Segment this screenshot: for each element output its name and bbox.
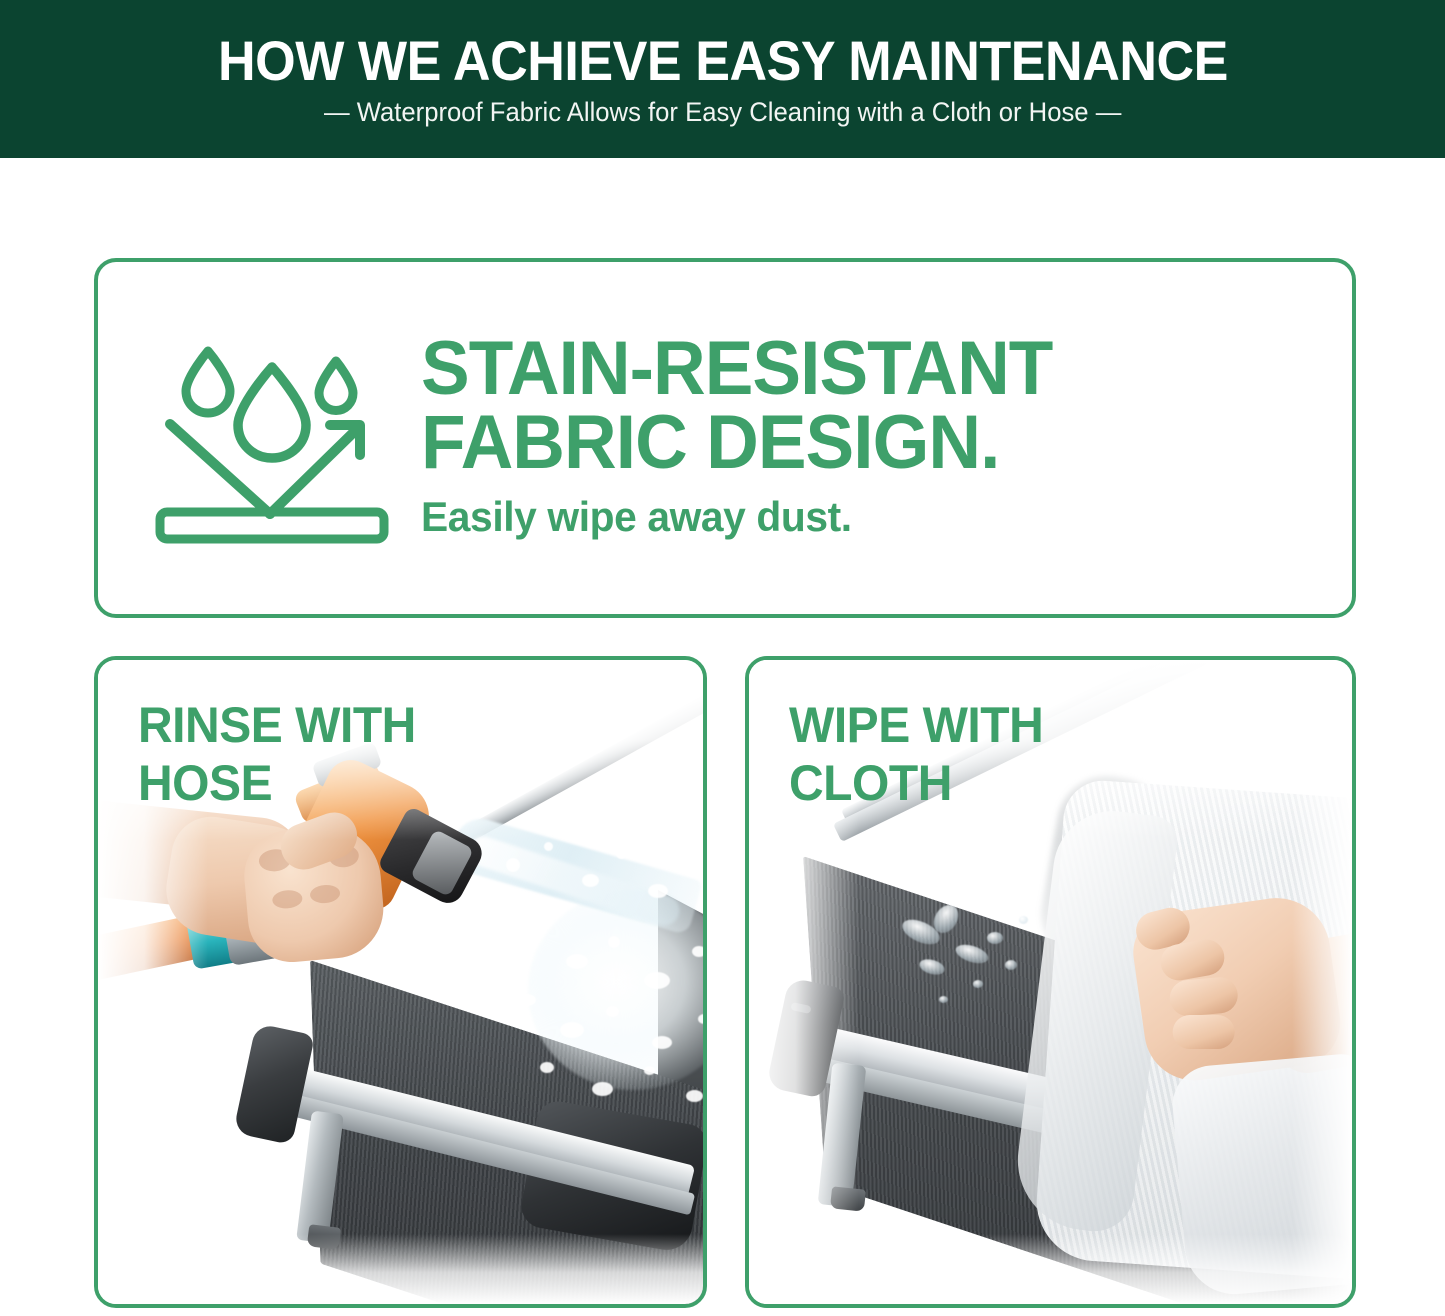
water-repellent-fabric-icon: [144, 323, 399, 553]
wipe-with-cloth-heading: WIPE WITH CLOTH: [789, 696, 1043, 812]
water-bead: [939, 996, 948, 1003]
stain-resistant-text-block: STAIN-RESISTANT FABRIC DESIGN. Easily wi…: [421, 332, 1352, 545]
cot-corner-cap-left: [233, 1023, 315, 1145]
rinse-heading-line1: RINSE WITH: [138, 696, 416, 754]
wipe-heading-line2: CLOTH: [789, 754, 1043, 812]
cot-leg-foot: [830, 1186, 866, 1211]
water-bead: [1019, 916, 1028, 924]
page-title: HOW WE ACHIEVE EASY MAINTENANCE: [218, 33, 1228, 89]
rinse-with-hose-card: RINSE WITH HOSE: [94, 656, 707, 1308]
stain-resistant-heading-line1: STAIN-RESISTANT: [421, 332, 1315, 406]
cot-leg-foot: [307, 1224, 341, 1250]
water-splash-droplets: [496, 850, 703, 1150]
water-bead: [1005, 960, 1017, 970]
rinse-heading-line2: HOSE: [138, 754, 416, 812]
rinse-with-hose-heading: RINSE WITH HOSE: [138, 696, 416, 812]
wipe-with-cloth-card: WIPE WITH CLOTH: [745, 656, 1356, 1308]
water-bead: [973, 980, 983, 988]
stain-resistant-heading-line2: FABRIC DESIGN.: [421, 406, 1315, 480]
cloth-fold-lower: [1169, 1052, 1352, 1299]
page-subtitle: — Waterproof Fabric Allows for Easy Clea…: [324, 99, 1121, 126]
water-bead: [987, 932, 1003, 944]
stain-resistant-card: STAIN-RESISTANT FABRIC DESIGN. Easily wi…: [94, 258, 1356, 618]
stain-resistant-subtext: Easily wipe away dust.: [421, 496, 1324, 538]
wipe-heading-line1: WIPE WITH: [789, 696, 1043, 754]
stain-resistant-heading: STAIN-RESISTANT FABRIC DESIGN.: [421, 332, 1315, 481]
header-band: HOW WE ACHIEVE EASY MAINTENANCE — Waterp…: [0, 0, 1445, 158]
